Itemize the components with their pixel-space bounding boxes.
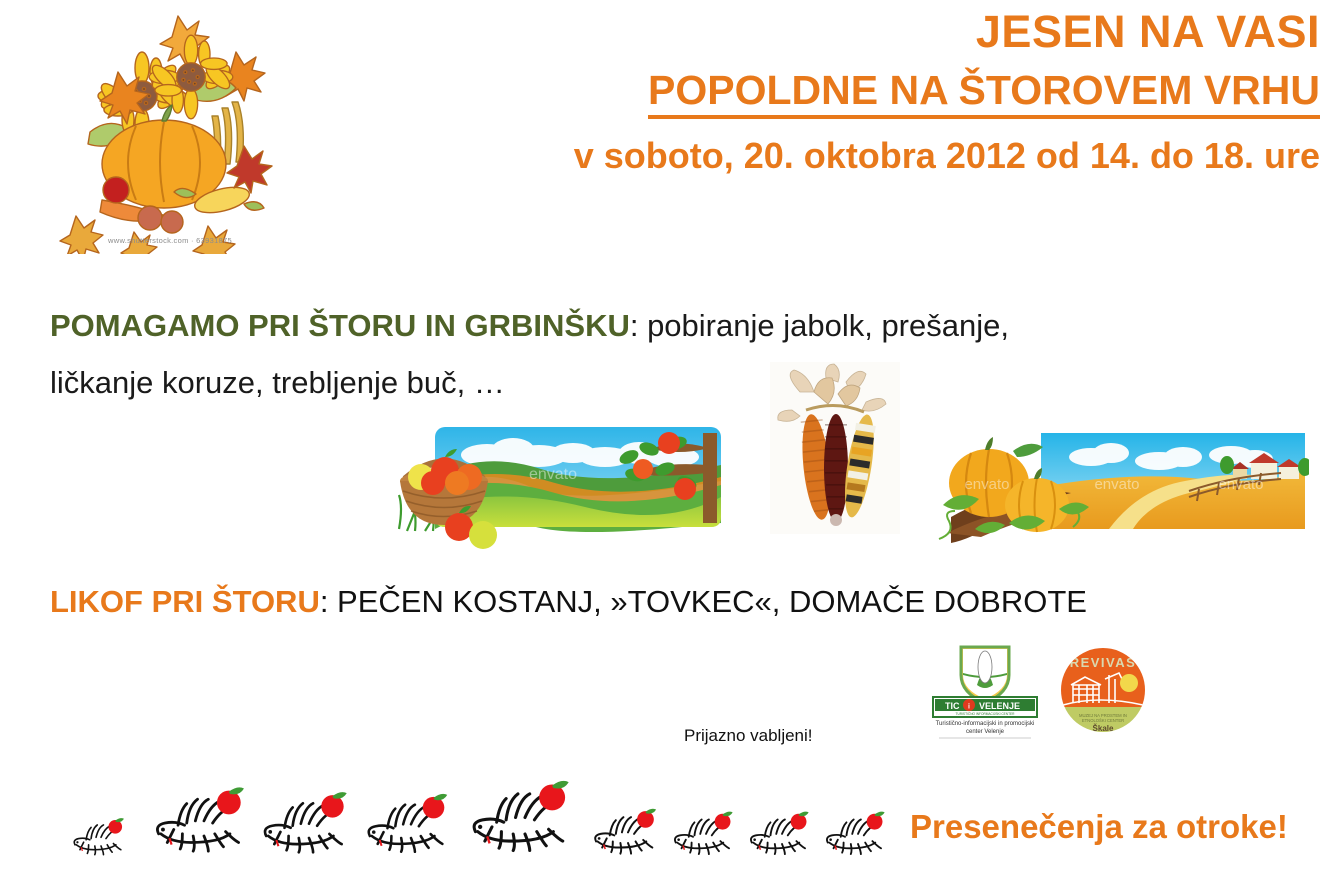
hedgehog-with-apple-row — [70, 782, 910, 862]
page-title: JESEN NA VASI — [330, 8, 1320, 55]
hedgehog-icon — [466, 775, 584, 858]
hedgehog-icon — [70, 815, 132, 858]
sponsor-logos: MESTNA OBČINA VELENJE TIC i VELENJE TURI… — [925, 645, 1160, 740]
revivas-logo: REVIVAS MUZEJ NA PROSTEM IN ETNOLOŠKI CE… — [1053, 645, 1153, 735]
feast-detail: : PEČEN KOSTANJ, »TOVKEC«, DOMAČE DOBROT… — [320, 584, 1087, 619]
svg-text:center Velenje: center Velenje — [966, 729, 1005, 735]
activities-detail: : pobiranje jabolk, prešanje, — [630, 308, 1009, 343]
hedgehog-icon — [670, 808, 742, 858]
svg-text:Škale: Škale — [1093, 724, 1114, 733]
pumpkin-field-landscape-banner: envato envato envato — [921, 417, 1309, 547]
poster-subtitle-text: POPOLDNE NA ŠTOROVEM VRHU — [648, 69, 1320, 119]
shutterstock-watermark: www.shutterstock.com · 63931875 — [95, 236, 245, 245]
activities-line-2: ličkanje koruze, trebljenje buč, … — [50, 357, 505, 409]
hedgehog-icon — [746, 808, 818, 858]
event-date: v soboto, 20. oktobra 2012 od 14. do 18.… — [330, 137, 1320, 175]
svg-text:i: i — [968, 704, 970, 711]
poster-header: JESEN NA VASI POPOLDNE NA ŠTOROVEM VRHU … — [330, 8, 1320, 175]
svg-text:REVIVAS: REVIVAS — [1070, 655, 1137, 670]
three-corn-cobs-illustration — [770, 362, 900, 534]
tic-velenje-logo: MESTNA OBČINA VELENJE TIC i VELENJE TURI… — [925, 645, 1045, 740]
hedgehog-icon — [258, 787, 360, 858]
svg-text:envato: envato — [1218, 476, 1263, 493]
hedgehog-icon — [590, 805, 666, 858]
activities-heading: POMAGAMO PRI ŠTORU IN GRBINŠKU — [50, 308, 630, 343]
poster-subtitle: POPOLDNE NA ŠTOROVEM VRHU — [330, 69, 1320, 119]
kids-surprise-text: Presenečenja za otroke! — [910, 808, 1288, 846]
svg-text:envato: envato — [1094, 476, 1139, 493]
feast-heading: LIKOF PRI ŠTORU — [50, 584, 320, 619]
hedgehog-icon — [362, 789, 460, 858]
svg-text:Turistično-informacijski in pr: Turistično-informacijski in promocijski — [936, 721, 1035, 727]
svg-text:envato: envato — [529, 466, 577, 483]
invitation-text: Prijazno vabljeni! — [684, 726, 813, 746]
svg-text:envato: envato — [964, 476, 1009, 493]
hedgehog-icon — [150, 782, 258, 858]
apple-basket-landscape-banner: envato — [377, 413, 729, 550]
svg-text:ETNOLOŠKI CENTER: ETNOLOŠKI CENTER — [1082, 718, 1124, 723]
feast-line: LIKOF PRI ŠTORU: PEČEN KOSTANJ, »TOVKEC«… — [50, 578, 1087, 626]
svg-text:TIC: TIC — [945, 701, 960, 711]
activities-line: POMAGAMO PRI ŠTORU IN GRBINŠKU: pobiranj… — [50, 300, 1310, 352]
svg-text:VELENJE: VELENJE — [979, 701, 1020, 711]
poster-canvas: www.shutterstock.com · 63931875 JESEN NA… — [0, 0, 1331, 869]
autumn-harvest-illustration — [46, 4, 286, 254]
svg-text:TURISTIČNO INFORMACIJSKI CENTE: TURISTIČNO INFORMACIJSKI CENTER — [956, 711, 1016, 716]
